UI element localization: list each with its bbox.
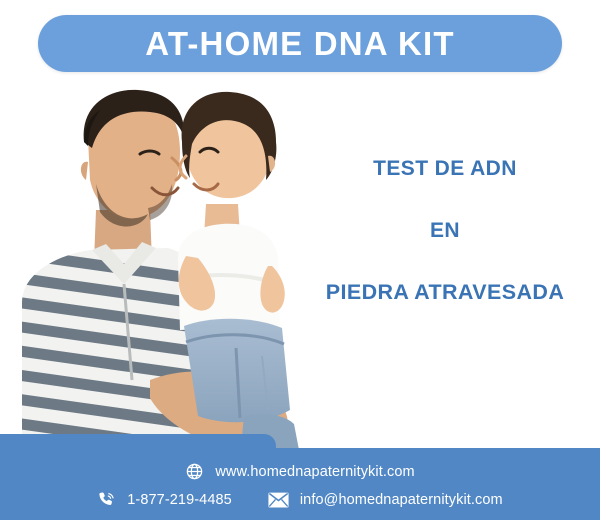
footer-bar: www.homednapaternitykit.com 1-877-219-44… bbox=[0, 434, 600, 520]
footer-email-text: info@homednapaternitykit.com bbox=[300, 492, 503, 508]
dna-kit-promo-card: AT-HOME DNA KIT bbox=[0, 0, 600, 520]
footer-content: www.homednapaternitykit.com 1-877-219-44… bbox=[0, 434, 600, 520]
headline-line-2: EN bbox=[300, 220, 590, 241]
footer-phone-text: 1-877-219-4485 bbox=[127, 492, 232, 508]
footer-website-row[interactable]: www.homednapaternitykit.com bbox=[0, 462, 600, 481]
family-photo-illustration bbox=[0, 80, 330, 455]
family-photo bbox=[0, 80, 330, 455]
footer-email-group[interactable]: info@homednapaternitykit.com bbox=[268, 492, 503, 508]
banner-title: AT-HOME DNA KIT bbox=[145, 27, 454, 60]
headline-line-1: TEST DE ADN bbox=[300, 158, 590, 179]
phone-icon bbox=[97, 490, 116, 509]
footer-website-text: www.homednapaternitykit.com bbox=[215, 464, 414, 480]
headline-line-3: PIEDRA ATRAVESADA bbox=[300, 282, 590, 304]
footer-contact-row: 1-877-219-4485 info@homednapaternitykit.… bbox=[0, 490, 600, 509]
footer-phone-group[interactable]: 1-877-219-4485 bbox=[97, 490, 232, 509]
banner-pill: AT-HOME DNA KIT bbox=[38, 15, 562, 72]
headline-block: TEST DE ADN EN PIEDRA ATRAVESADA bbox=[300, 158, 590, 304]
envelope-icon bbox=[268, 492, 289, 508]
globe-icon bbox=[185, 462, 204, 481]
